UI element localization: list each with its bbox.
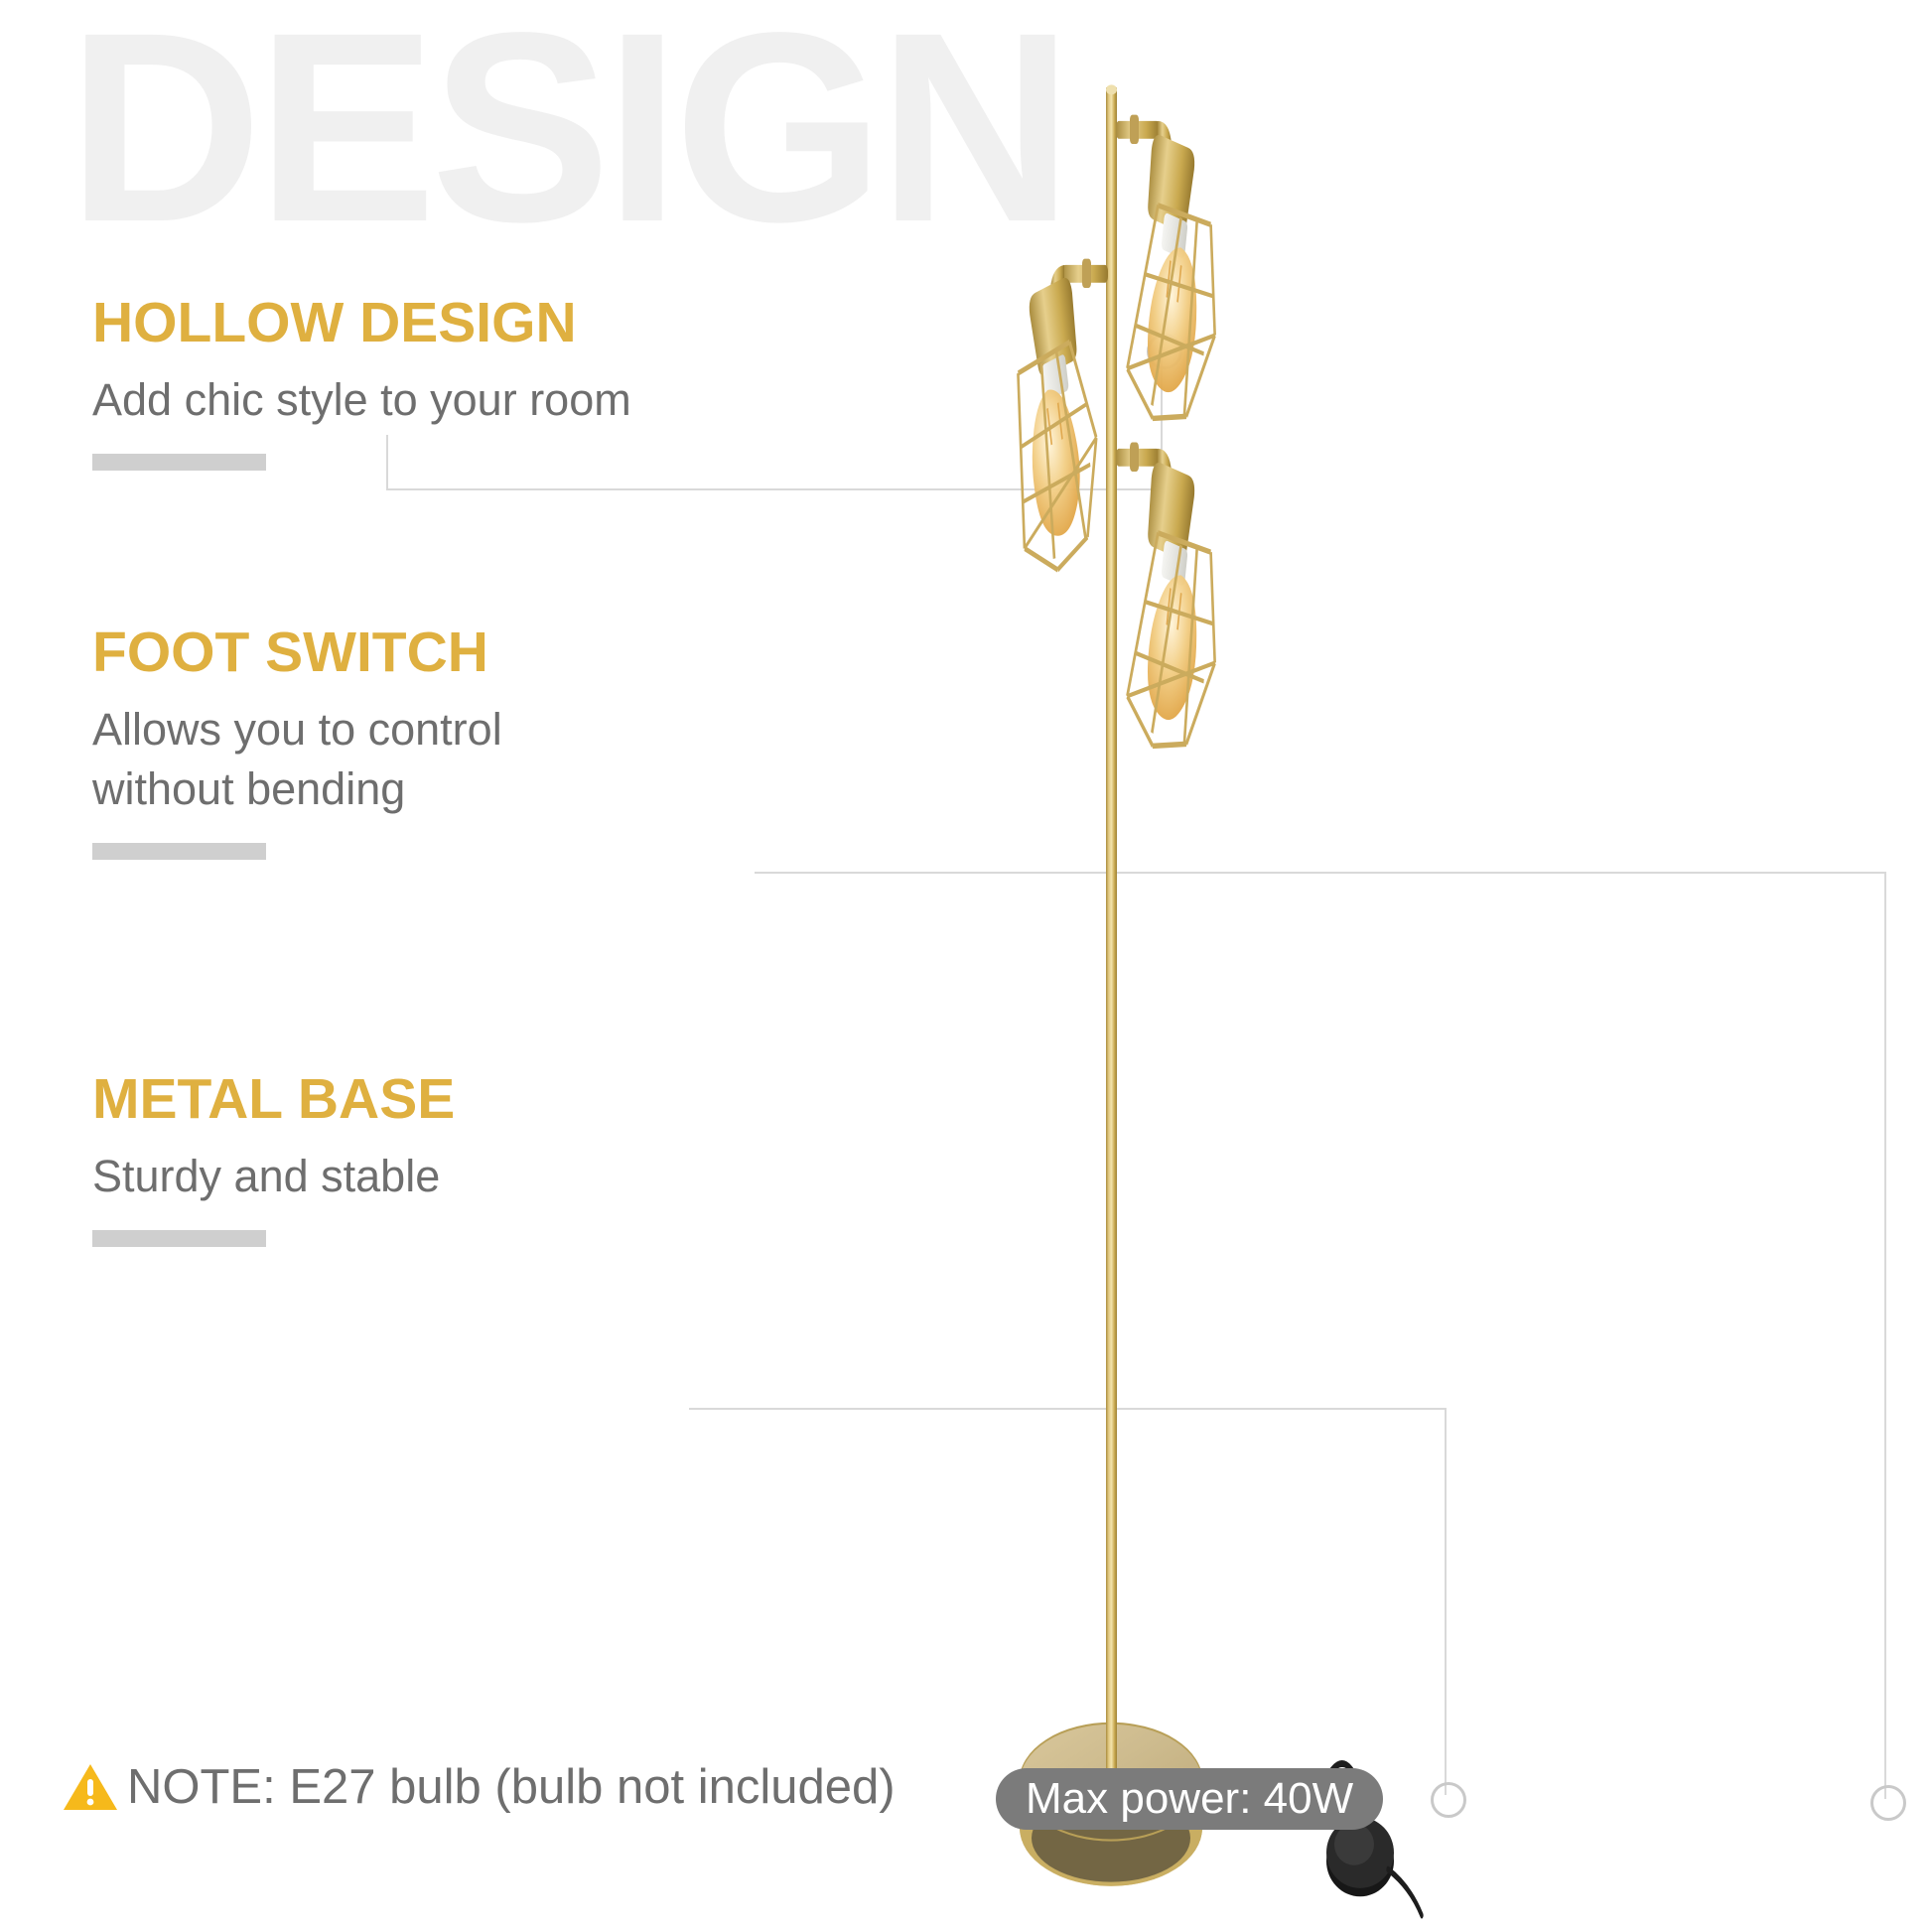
feature-subtitle: Sturdy and stable (92, 1147, 455, 1206)
feature-block-foot-switch: FOOT SWITCH Allows you to control withou… (92, 623, 502, 860)
feature-underline-bar (92, 843, 266, 860)
feature-heading: METAL BASE (92, 1070, 455, 1130)
connector-line-1-vertical-left (386, 435, 388, 490)
feature-block-hollow-design: HOLLOW DESIGN Add chic style to your roo… (92, 294, 631, 471)
feature-underline-bar (92, 1230, 266, 1247)
metal-base (1020, 1648, 1202, 1886)
shade-top-right (1116, 115, 1226, 459)
infographic-canvas: DESIGN HOLLOW DESIGN Add chic style to y… (0, 0, 1932, 1932)
feature-block-metal-base: METAL BASE Sturdy and stable (92, 1070, 455, 1247)
product-image-floor-lamp (1013, 0, 1932, 1932)
feature-heading: FOOT SWITCH (92, 623, 502, 683)
status-badge-max-power: Max power: 40W (996, 1768, 1383, 1830)
feature-subtitle: Add chic style to your room (92, 370, 631, 430)
feature-subtitle: Allows you to control without bending (92, 700, 502, 819)
note-text: NOTE: E27 bulb (bulb not included) (127, 1759, 896, 1815)
note-row: NOTE: E27 bulb (bulb not included) (62, 1759, 896, 1815)
shade-middle-left (1013, 259, 1109, 585)
feature-underline-bar (92, 454, 266, 471)
watermark-design: DESIGN (68, 0, 1067, 262)
shade-lower-right (1116, 443, 1225, 769)
feature-heading: HOLLOW DESIGN (92, 294, 631, 353)
warning-triangle-icon (62, 1761, 119, 1813)
